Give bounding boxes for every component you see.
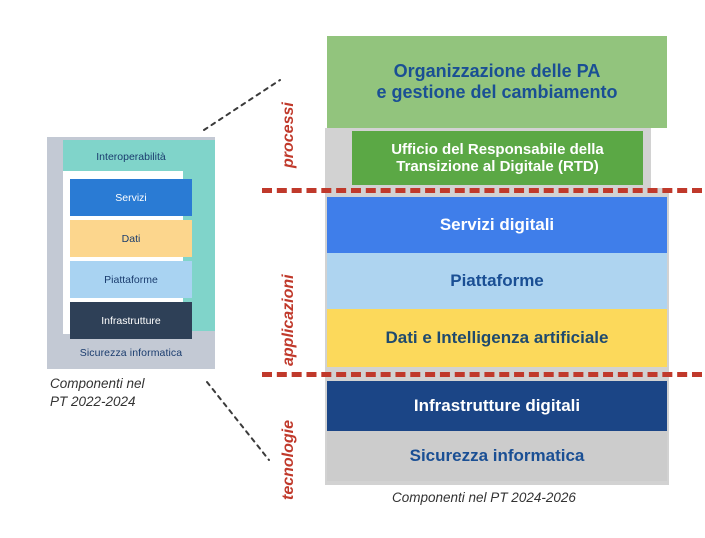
block-piattaforme: Piattaforme [327, 253, 667, 309]
block-ufficio-rtd: Ufficio del Responsabile della Transizio… [352, 131, 643, 185]
block-organizzazione-pa: Organizzazione delle PA e gestione del c… [327, 36, 667, 128]
axis-label-tecnologie: tecnologie [280, 420, 298, 500]
axis-label-processi: processi [280, 102, 298, 168]
block-organizzazione-pa-line-2: e gestione del cambiamento [376, 82, 617, 102]
block-dati-intelligenza-artificiale: Dati e Intelligenza artificiale [327, 309, 667, 367]
block-organizzazione-pa-line-1: Organizzazione delle PA [394, 61, 601, 81]
block-infrastrutture-digitali: Infrastrutture digitali [327, 381, 667, 431]
new-diagram-caption: Componenti nel PT 2024-2026 [392, 490, 576, 505]
block-ufficio-rtd-line-2: Transizione al Digitale (RTD) [396, 158, 599, 175]
block-servizi-digitali: Servizi digitali [327, 197, 667, 253]
new-components-diagram: Organizzazione delle PA e gestione del c… [0, 0, 705, 538]
block-sicurezza-informatica: Sicurezza informatica [327, 431, 667, 481]
separator-processi-applicazioni [262, 188, 702, 193]
axis-label-applicazioni: applicazioni [280, 274, 298, 366]
separator-applicazioni-tecnologie [262, 372, 702, 377]
diagram-canvas: Interoperabilità Servizi Dati Piattaform… [0, 0, 705, 538]
block-ufficio-rtd-line-1: Ufficio del Responsabile della [391, 141, 604, 158]
